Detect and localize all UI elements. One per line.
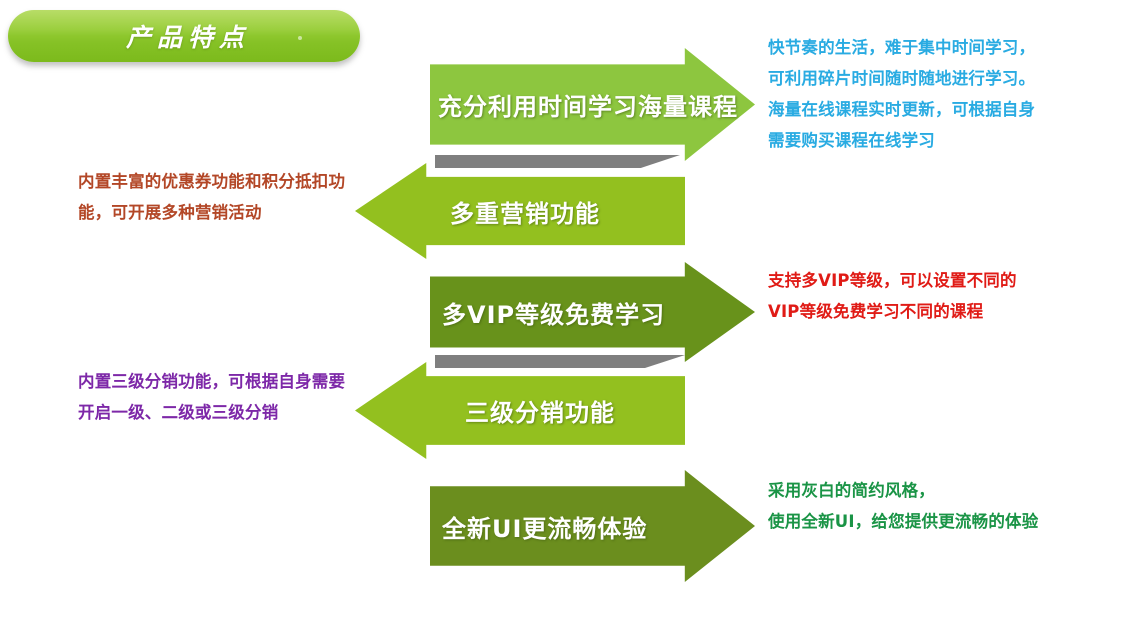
slide-canvas: 产品特点 充分利用时间学习海量课程 多重营销功能 多VIP等级免费学习 三级分销… (0, 0, 1132, 633)
page-title: 产品特点 (118, 18, 250, 54)
feature-description-2: 内置丰富的优惠券功能和积分抵扣功能，可开展多种营销活动 (78, 166, 350, 228)
feature-arrow-5[interactable]: 全新UI更流畅体验 (430, 470, 755, 582)
feature-arrow-label-2: 多重营销功能 (450, 194, 600, 229)
feature-arrow-3[interactable]: 多VIP等级免费学习 (430, 262, 755, 362)
feature-arrow-label-5: 全新UI更流畅体验 (442, 509, 647, 544)
feature-arrow-label-1: 充分利用时间学习海量课程 (438, 87, 738, 122)
feature-description-4: 内置三级分销功能，可根据自身需要开启一级、二级或三级分销 (78, 366, 350, 428)
feature-arrow-label-3: 多VIP等级免费学习 (442, 295, 665, 330)
feature-description-1: 快节奏的生活，难于集中时间学习，可利用碎片时间随时随地进行学习。海量在线课程实时… (768, 32, 1040, 156)
feature-arrow-4[interactable]: 三级分销功能 (355, 362, 685, 459)
feature-arrow-label-4: 三级分销功能 (465, 393, 615, 428)
page-title-banner: 产品特点 (8, 10, 360, 62)
feature-arrow-2[interactable]: 多重营销功能 (355, 163, 685, 259)
feature-description-5: 采用灰白的简约风格，使用全新UI，给您提供更流畅的体验 (768, 475, 1040, 537)
feature-description-3: 支持多VIP等级，可以设置不同的VIP等级免费学习不同的课程 (768, 265, 1040, 327)
banner-highlight-dot (298, 36, 302, 40)
feature-arrow-1[interactable]: 充分利用时间学习海量课程 (430, 48, 755, 161)
